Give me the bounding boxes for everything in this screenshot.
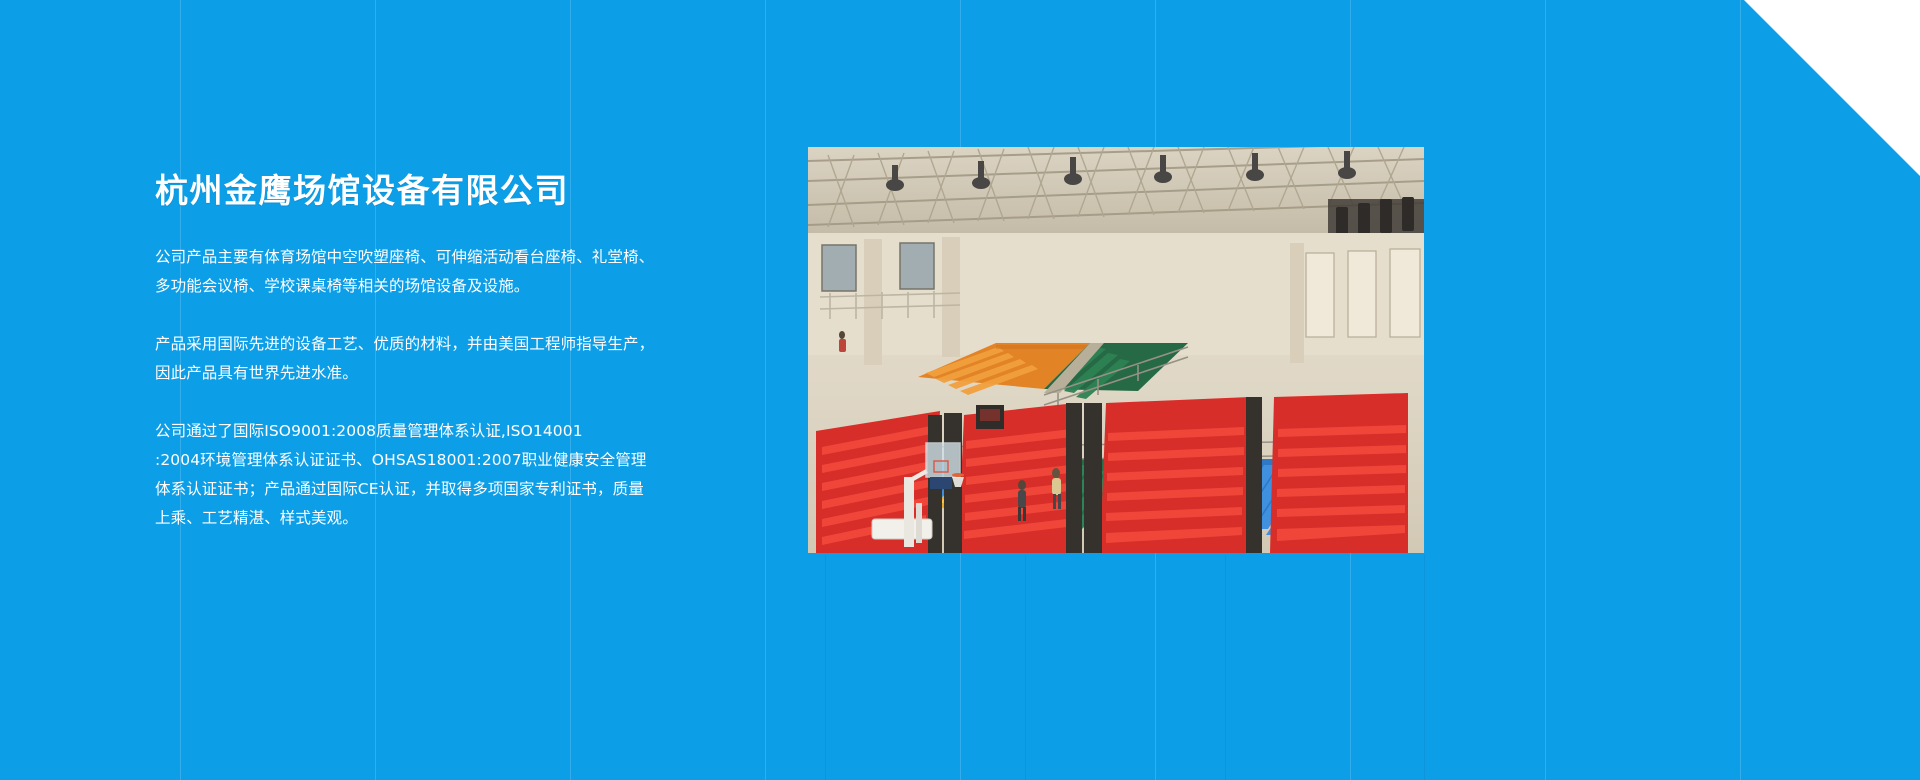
page-title: 杭州金鹰场馆设备有限公司 (155, 172, 660, 212)
banner-stage: 杭州金鹰场馆设备有限公司 公司产品主要有体育场馆中空吹塑座椅、可伸缩活动看台座椅… (0, 0, 1920, 780)
intro-paragraph-technology: 产品采用国际先进的设备工艺、优质的材料，并由美国工程师指导生产，因此产品具有世界… (155, 330, 655, 388)
cert-line-4: 式美观。 (295, 509, 357, 527)
gymnasium-photo: 体育馆可伸缩活动看台座椅实景图 (808, 147, 1424, 553)
cert-line-1b: :2004环境 (155, 451, 231, 469)
cert-line-1a: 公司通过了国际ISO9001:2008质量管理体系认证,ISO14001 (155, 422, 583, 440)
intro-paragraph-certifications: 公司通过了国际ISO9001:2008质量管理体系认证,ISO14001:200… (155, 417, 655, 533)
gymnasium-photo-graphic (808, 147, 1424, 553)
banner-text-column: 杭州金鹰场馆设备有限公司 公司产品主要有体育场馆中空吹塑座椅、可伸缩活动看台座椅… (155, 172, 660, 533)
intro-paragraph-products: 公司产品主要有体育场馆中空吹塑座椅、可伸缩活动看台座椅、礼堂椅、多功能会议椅、学… (155, 243, 655, 301)
